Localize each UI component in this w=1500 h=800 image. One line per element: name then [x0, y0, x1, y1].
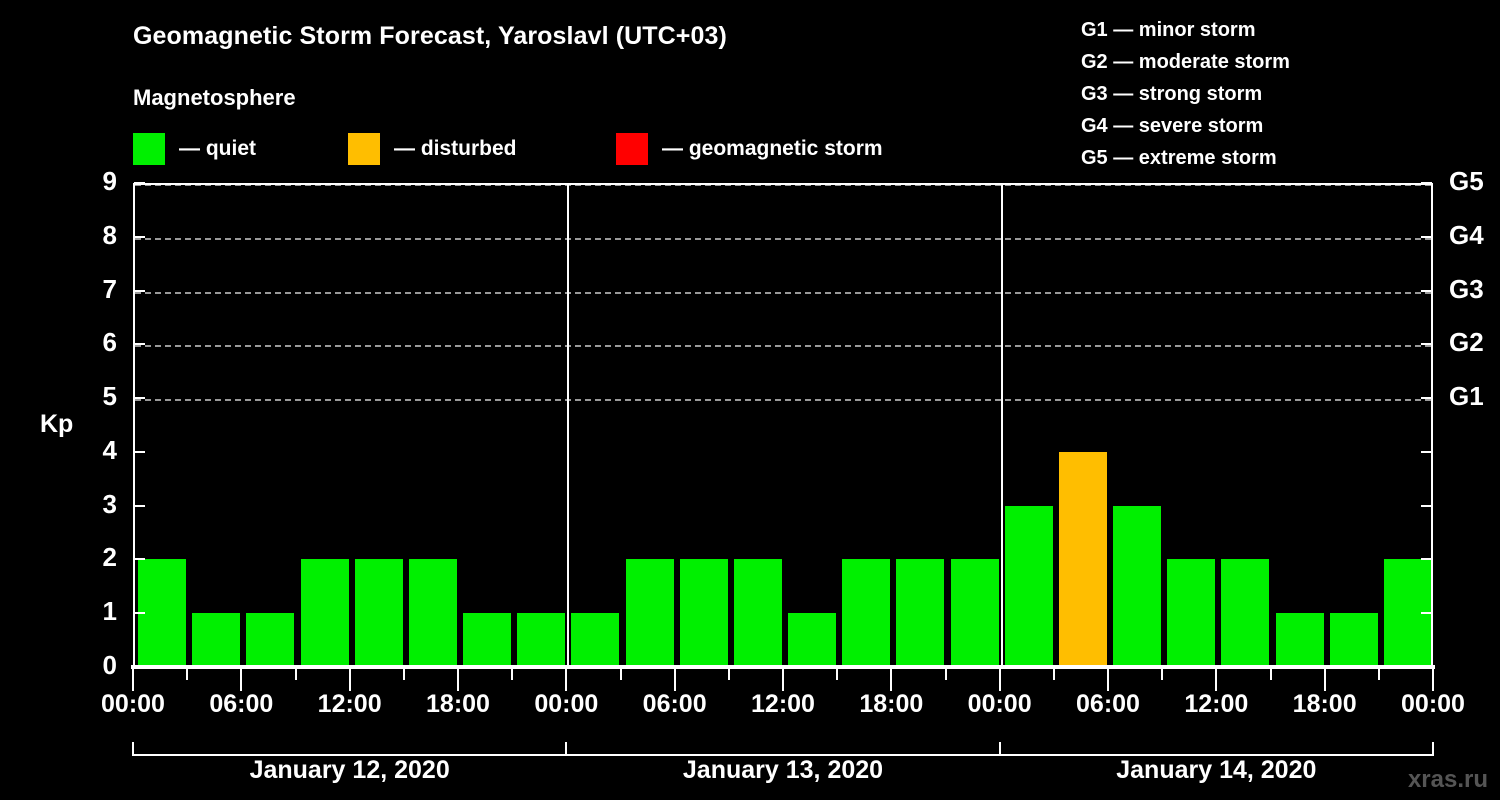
bar[interactable]	[626, 559, 674, 667]
bar[interactable]	[1167, 559, 1215, 667]
y-tick-label-5: 5	[77, 381, 117, 412]
x-tick-minor-21	[1270, 669, 1272, 680]
plot-area	[133, 183, 1433, 667]
g-axis-label-G2: G2	[1449, 327, 1484, 358]
y-tick-7	[134, 290, 145, 292]
y-tick-1	[134, 612, 145, 614]
x-tick-minor-15	[945, 669, 947, 680]
legend-label-disturbed: — disturbed	[394, 137, 517, 161]
y-tick-label-8: 8	[77, 220, 117, 251]
bar[interactable]	[409, 559, 457, 667]
x-tick-minor-7	[511, 669, 513, 680]
y-tick-label-9: 9	[77, 166, 117, 197]
bar[interactable]	[571, 613, 619, 667]
bar[interactable]	[355, 559, 403, 667]
legend-item-quiet: — quiet	[133, 132, 256, 166]
bar[interactable]	[951, 559, 999, 667]
x-tick-major-0	[132, 669, 134, 691]
x-tick-minor-9	[620, 669, 622, 680]
bar[interactable]	[680, 559, 728, 667]
g-tick-kp-5	[1421, 397, 1432, 399]
x-tick-minor-3	[295, 669, 297, 680]
y-tick-6	[134, 343, 145, 345]
bar[interactable]	[734, 559, 782, 667]
y-tick-3	[134, 505, 145, 507]
x-tick-minor-13	[836, 669, 838, 680]
g-scale-row-4: G4 — severe storm	[1081, 110, 1290, 142]
g-tick-kp-1	[1421, 612, 1432, 614]
g-axis-label-G4: G4	[1449, 220, 1484, 251]
y-tick-0	[134, 666, 145, 668]
y-tick-label-7: 7	[77, 274, 117, 305]
plot-inner	[135, 185, 1431, 667]
bar[interactable]	[1330, 613, 1378, 667]
g-tick-kp-8	[1421, 236, 1432, 238]
legend-swatch-quiet	[133, 133, 165, 165]
legend-item-disturbed: — disturbed	[348, 132, 517, 166]
g-axis-label-G3: G3	[1449, 274, 1484, 305]
g-tick-kp-3	[1421, 505, 1432, 507]
bar[interactable]	[842, 559, 890, 667]
y-tick-label-6: 6	[77, 327, 117, 358]
bar[interactable]	[1059, 452, 1107, 667]
x-tick-label-12: 00:00	[1363, 690, 1500, 719]
y-tick-9	[134, 182, 145, 184]
bar[interactable]	[788, 613, 836, 667]
bar[interactable]	[1005, 506, 1053, 667]
legend-label-storm: — geomagnetic storm	[662, 137, 883, 161]
day-bracket-1	[132, 742, 567, 756]
g-scale-row-1: G1 — minor storm	[1081, 14, 1290, 46]
x-tick-major-6	[457, 669, 459, 691]
x-tick-major-8	[565, 669, 567, 691]
bar[interactable]	[192, 613, 240, 667]
bar[interactable]	[138, 559, 186, 667]
g-tick-kp-4	[1421, 451, 1432, 453]
chart-root: Geomagnetic Storm Forecast, Yaroslavl (U…	[0, 0, 1500, 800]
g-scale-key: G1 — minor stormG2 — moderate stormG3 — …	[1081, 14, 1290, 174]
legend-swatch-disturbed	[348, 133, 380, 165]
x-tick-major-20	[1215, 669, 1217, 691]
x-tick-major-10	[674, 669, 676, 691]
y-tick-label-2: 2	[77, 542, 117, 573]
g-scale-row-5: G5 — extreme storm	[1081, 142, 1290, 174]
y-tick-8	[134, 236, 145, 238]
g-tick-kp-2	[1421, 558, 1432, 560]
day-label-2: January 13, 2020	[566, 756, 999, 785]
y-tick-2	[134, 558, 145, 560]
x-tick-major-2	[240, 669, 242, 691]
y-tick-label-4: 4	[77, 435, 117, 466]
x-tick-major-22	[1324, 669, 1326, 691]
legend-label-quiet: — quiet	[179, 137, 256, 161]
bar[interactable]	[896, 559, 944, 667]
y-tick-label-3: 3	[77, 489, 117, 520]
chart-subtitle: Magnetosphere	[133, 85, 296, 111]
bar-series	[135, 185, 1431, 667]
g-scale-row-3: G3 — strong storm	[1081, 78, 1290, 110]
g-scale-row-2: G2 — moderate storm	[1081, 46, 1290, 78]
x-tick-minor-23	[1378, 669, 1380, 680]
x-tick-minor-5	[403, 669, 405, 680]
page-title: Geomagnetic Storm Forecast, Yaroslavl (U…	[133, 22, 727, 51]
day-bracket-2	[565, 742, 1000, 756]
x-tick-major-14	[890, 669, 892, 691]
g-tick-kp-6	[1421, 343, 1432, 345]
x-tick-major-24	[1432, 669, 1434, 691]
bar[interactable]	[1221, 559, 1269, 667]
y-tick-label-1: 1	[77, 596, 117, 627]
legend-swatch-storm	[616, 133, 648, 165]
x-tick-major-18	[1107, 669, 1109, 691]
bar[interactable]	[1276, 613, 1324, 667]
day-label-1: January 12, 2020	[133, 756, 566, 785]
x-tick-minor-1	[186, 669, 188, 680]
y-tick-4	[134, 451, 145, 453]
x-tick-minor-11	[728, 669, 730, 680]
x-tick-major-16	[999, 669, 1001, 691]
bar[interactable]	[301, 559, 349, 667]
y-tick-label-0: 0	[77, 650, 117, 681]
g-axis-label-G5: G5	[1449, 166, 1484, 197]
bar[interactable]	[1113, 506, 1161, 667]
x-tick-minor-19	[1161, 669, 1163, 680]
bar[interactable]	[463, 613, 511, 667]
bar[interactable]	[517, 613, 565, 667]
g-tick-kp-0	[1421, 666, 1432, 668]
y-axis-title: Kp	[40, 410, 73, 439]
g-tick-kp-7	[1421, 290, 1432, 292]
x-tick-major-4	[349, 669, 351, 691]
x-tick-minor-17	[1053, 669, 1055, 680]
bar[interactable]	[246, 613, 294, 667]
y-tick-5	[134, 397, 145, 399]
watermark: xras.ru	[1408, 766, 1488, 794]
day-label-3: January 14, 2020	[1000, 756, 1433, 785]
x-tick-major-12	[782, 669, 784, 691]
g-axis-label-G1: G1	[1449, 381, 1484, 412]
g-tick-kp-9	[1421, 182, 1432, 184]
legend-item-storm: — geomagnetic storm	[616, 132, 883, 166]
day-bracket-3	[999, 742, 1434, 756]
